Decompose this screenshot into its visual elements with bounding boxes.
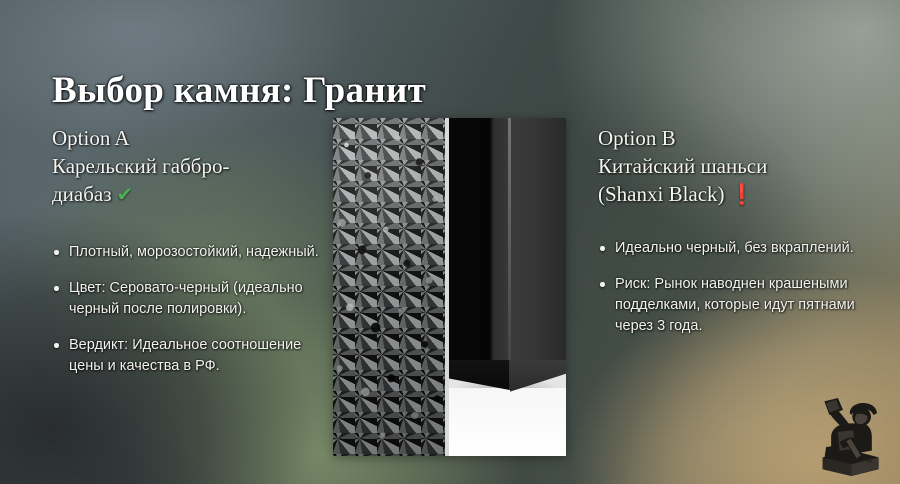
option-a-column: Option A Карельский габбро- диабаз✔ Плот…: [52, 124, 338, 392]
exclamation-mark-icon: ❗: [725, 182, 755, 206]
list-item: Риск: Рынок наводнен крашеными подделкам…: [598, 274, 884, 337]
option-a-stone-name-line2: диабаз: [52, 182, 112, 206]
gabbro-diabase-photo: Текстура серого габбро-диабаза крупным п…: [333, 118, 445, 456]
black-block-scene: [449, 118, 566, 456]
granite-shading-overlay: [333, 118, 445, 456]
page-title: Выбор камня: Гранит: [52, 71, 426, 112]
option-b-stone-name-line1: Китайский шаньси: [598, 152, 884, 180]
option-b-column: Option B Китайский шаньси (Shanxi Black)…: [598, 124, 884, 352]
check-mark-icon: ✔: [112, 182, 134, 206]
option-a-bullet-list: Плотный, морозостойкий, надежный. Цвет: …: [52, 242, 338, 377]
option-a-label: Option A: [52, 124, 338, 152]
option-b-bullet-list: Идеально черный, без вкраплений. Риск: Р…: [598, 238, 884, 337]
list-item: Идеально черный, без вкраплений.: [598, 238, 884, 259]
list-item: Вердикт: Идеальное соотношение цены и ка…: [52, 335, 338, 377]
shanxi-black-photo: Полированный черный гранитный блок на бе…: [449, 118, 566, 456]
slide-canvas: Выбор камня: Гранит Option A Карельский …: [0, 0, 900, 484]
option-b-heading: Option B Китайский шаньси (Shanxi Black)…: [598, 124, 884, 208]
option-a-heading: Option A Карельский габбро- диабаз✔: [52, 124, 338, 208]
stonemason-logo: Каменщик с молотком и зубилом обрабатыва…: [800, 398, 886, 476]
block-edge-highlight: [508, 118, 511, 372]
stonemason-logo-alt: Каменщик с молотком и зубилом обрабатыва…: [886, 398, 887, 399]
option-a-stone-name-line1: Карельский габбро-: [52, 152, 338, 180]
stone-comparison-photos: Текстура серого габбро-диабаза крупным п…: [333, 118, 566, 456]
option-b-label: Option B: [598, 124, 884, 152]
option-a-stone-name-line2-wrap: диабаз✔: [52, 180, 338, 208]
list-item: Цвет: Серовато-черный (идеально черный п…: [52, 278, 338, 320]
option-b-stone-name-line2-wrap: (Shanxi Black)❗: [598, 180, 884, 208]
scene-floor: [449, 388, 566, 456]
list-item: Плотный, морозостойкий, надежный.: [52, 242, 338, 263]
option-b-stone-name-line2: (Shanxi Black): [598, 182, 725, 206]
